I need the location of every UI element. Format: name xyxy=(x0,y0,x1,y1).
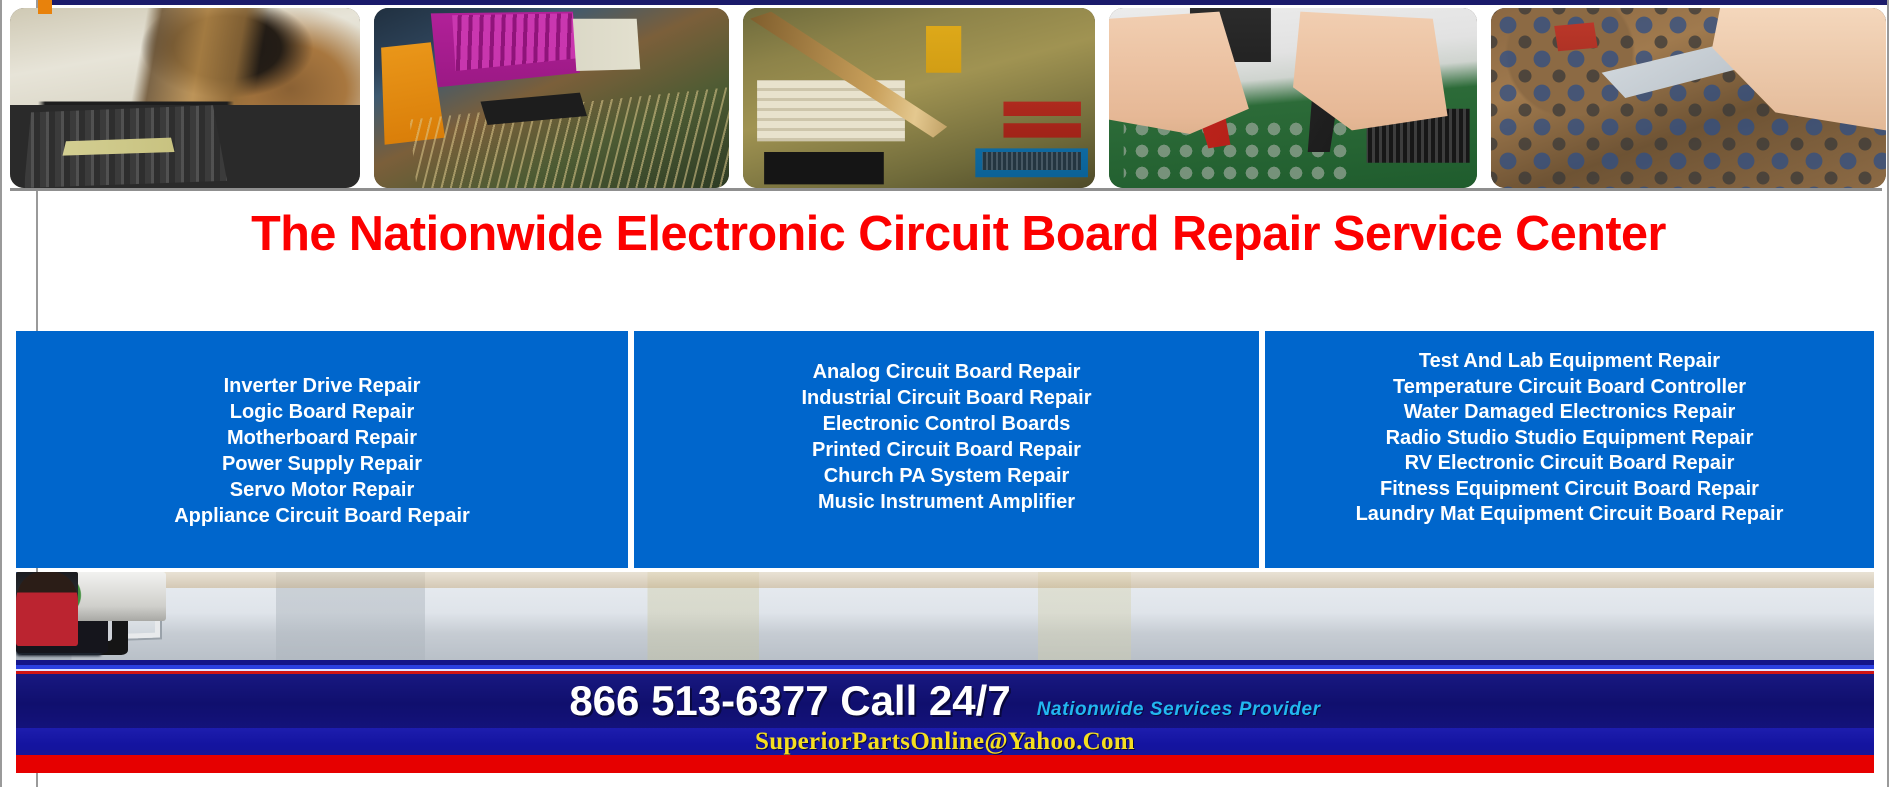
photo-heatsink-motherboard xyxy=(374,8,729,188)
page-root: The Nationwide Electronic Circuit Board … xyxy=(0,0,1889,787)
service-item[interactable]: RV Electronic Circuit Board Repair xyxy=(1405,451,1735,477)
photo-strip xyxy=(10,8,1880,188)
service-item[interactable]: Test And Lab Equipment Repair xyxy=(1419,349,1720,375)
phone-number[interactable]: 866 513-6377 Call 24/7 xyxy=(569,680,1010,722)
office-banner-image xyxy=(16,572,1874,660)
service-panel-two: Analog Circuit Board Repair Industrial C… xyxy=(634,331,1259,568)
service-item[interactable]: Appliance Circuit Board Repair xyxy=(174,503,470,529)
service-item[interactable]: Motherboard Repair xyxy=(227,425,417,451)
email-address[interactable]: SuperiorPartsOnline@Yahoo.Com xyxy=(755,729,1135,754)
page-title-text: The Nationwide Electronic Circuit Board … xyxy=(251,210,1666,259)
service-item[interactable]: Industrial Circuit Board Repair xyxy=(801,385,1091,411)
service-item[interactable]: Radio Studio Studio Equipment Repair xyxy=(1386,426,1754,452)
photo-strip-divider xyxy=(10,188,1882,191)
service-item[interactable]: Inverter Drive Repair xyxy=(224,373,421,399)
service-item[interactable]: Analog Circuit Board Repair xyxy=(813,359,1081,385)
photo-multimeter-probes xyxy=(1109,8,1477,188)
service-item[interactable]: Music Instrument Amplifier xyxy=(818,489,1075,515)
page-frame-left-rule xyxy=(0,0,2,787)
footer-red-band xyxy=(16,755,1874,773)
service-panel-one: Inverter Drive Repair Logic Board Repair… xyxy=(16,331,628,568)
service-panels: Inverter Drive Repair Logic Board Repair… xyxy=(16,331,1874,568)
email-banner: SuperiorPartsOnline@Yahoo.Com xyxy=(16,728,1874,755)
photo-screwdriver-slots xyxy=(743,8,1095,188)
service-item[interactable]: Power Supply Repair xyxy=(222,451,422,477)
service-item[interactable]: Electronic Control Boards xyxy=(823,411,1071,437)
photo-pliers-component-board xyxy=(1491,8,1886,188)
photo-technician-module xyxy=(10,8,360,188)
top-navy-rule xyxy=(38,0,1887,5)
service-item[interactable]: Servo Motor Repair xyxy=(230,477,414,503)
service-item[interactable]: Printed Circuit Board Repair xyxy=(812,437,1081,463)
service-item[interactable]: Water Damaged Electronics Repair xyxy=(1404,400,1736,426)
nationwide-tagline: Nationwide Services Provider xyxy=(1037,700,1321,719)
phone-banner: 866 513-6377 Call 24/7 Nationwide Servic… xyxy=(16,674,1874,728)
service-item[interactable]: Logic Board Repair xyxy=(230,399,414,425)
service-item[interactable]: Church PA System Repair xyxy=(824,463,1070,489)
service-item[interactable]: Fitness Equipment Circuit Board Repair xyxy=(1380,477,1759,503)
service-panel-three: Test And Lab Equipment Repair Temperatur… xyxy=(1265,331,1874,568)
page-title: The Nationwide Electronic Circuit Board … xyxy=(38,198,1878,270)
service-item[interactable]: Laundry Mat Equipment Circuit Board Repa… xyxy=(1356,502,1784,528)
service-item[interactable]: Temperature Circuit Board Controller xyxy=(1393,375,1746,401)
orange-corner-marker-icon xyxy=(38,0,52,14)
